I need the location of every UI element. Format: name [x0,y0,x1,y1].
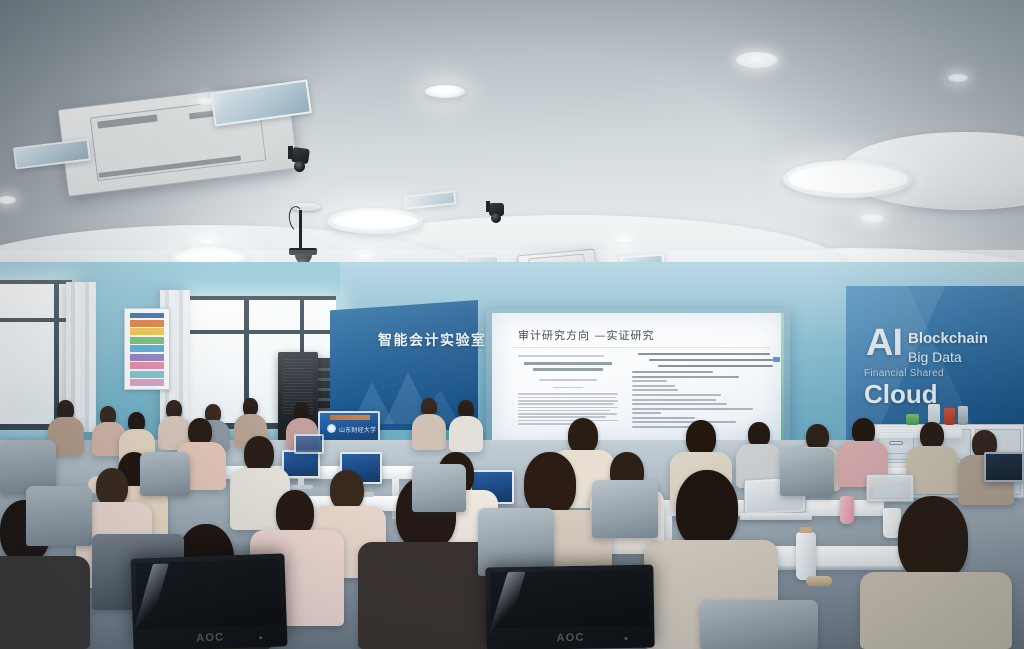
lab-title-sign: 智能会计实验室 [378,330,487,350]
podium-monitor-accent-bar [330,415,370,420]
monitor-brand-label: AOC [556,632,584,644]
chair-center-2[interactable] [592,480,658,538]
wordmark-blockchain: Blockchain [908,330,988,347]
monitor-brand-label: AOC [196,631,224,644]
university-seal-icon [327,424,336,433]
podium-monitor-banner-text: 山东财经大学 [339,425,376,434]
downlight-1 [736,52,778,68]
downlight-8 [357,254,373,260]
projection-screen[interactable]: 审计研究方向 —实证研究 [492,313,784,447]
ceiling-shadow-right [644,0,1024,250]
slide-title: 审计研究方向 —实证研究 [518,327,655,343]
window-frame [186,296,336,300]
chair-left-2[interactable] [26,486,92,546]
water-bottle-white [796,532,816,580]
student-laptop-3[interactable] [866,474,914,502]
laptop-base [740,513,812,520]
tumbler-pink [840,496,854,524]
slide-left-column [518,355,618,426]
chair-mid-1[interactable] [412,464,466,512]
power-led-icon [260,636,263,639]
window-transom [0,318,72,322]
schedule-poster [124,308,170,390]
power-led-icon [625,637,628,640]
panel-light-right [783,160,913,198]
monitor-base [289,485,313,489]
panel-light-center [327,208,423,234]
downlight-4 [860,214,884,223]
chair-front-right[interactable] [700,600,818,649]
ceiling [0,0,1024,300]
wordmark-financial-shared: Financial Shared [864,368,944,379]
slide-divider [512,347,770,348]
jar-grey [958,406,968,425]
wordmark-big-data: Big Data [908,349,962,365]
chair-mid-2[interactable] [140,452,190,496]
student-monitor-6[interactable] [294,434,324,454]
student-monitor-5[interactable] [984,452,1024,482]
downlight-7 [948,74,968,82]
downlight-5 [196,98,214,105]
jar-red [944,408,955,425]
screen-edge-highlight [781,313,784,447]
panel-light-far [425,85,465,98]
wordmark-ai: AI [866,322,902,365]
jar-clear [928,404,940,424]
window-frame [0,280,72,284]
window-transom [186,330,336,334]
classroom-scene: 智能会计实验室 AI Blockchain Big Data Financial… [0,0,1024,649]
chair-right-1[interactable] [780,448,834,496]
foreground-monitor-right[interactable]: AOC [485,565,654,649]
snack-item [806,576,832,586]
downlight-3 [195,238,217,246]
slide-right-column [632,353,776,431]
jar-green [906,414,919,425]
wordmark-cloud: Cloud [864,379,938,410]
foreground-monitor-left[interactable]: AOC [130,553,287,649]
desk-row-back-right [862,428,962,438]
downlight-2 [612,236,634,244]
